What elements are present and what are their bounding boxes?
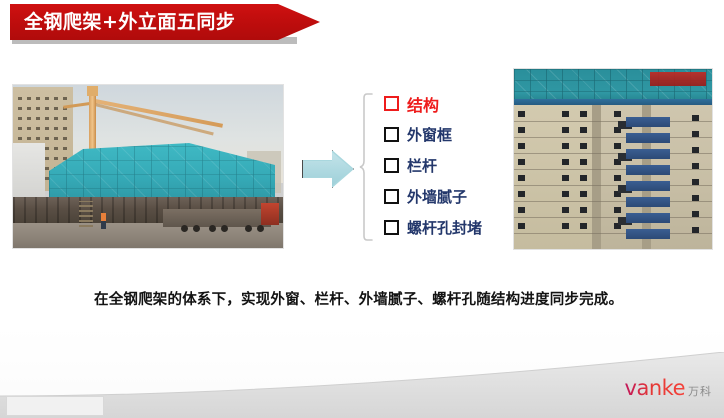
square-bullet-icon <box>384 96 399 111</box>
body-text: 在全钢爬架的体系下，实现外窗、栏杆、外墙腻子、螺杆孔随结构进度同步完成。 <box>52 290 672 310</box>
arrow-fill <box>302 150 354 188</box>
construction-site-photo <box>12 84 284 249</box>
square-bullet-icon <box>384 127 399 142</box>
square-bullet-icon <box>384 189 399 204</box>
crane-top <box>87 86 98 96</box>
facade-scaffold <box>514 69 712 103</box>
list-item-label: 栏杆 <box>407 155 437 176</box>
footer-placeholder-box <box>6 396 104 416</box>
site-worker <box>101 213 106 229</box>
list-item-label: 结构 <box>407 92 439 116</box>
logo-wordmark: vanke <box>625 378 685 399</box>
square-bullet-icon <box>384 220 399 235</box>
photo-white-building <box>12 143 45 203</box>
vanke-logo: vanke 万科 <box>625 378 712 399</box>
list-item-tie-hole-sealing[interactable]: 螺杆孔封堵 <box>384 212 534 243</box>
curly-brace-icon <box>358 92 374 242</box>
site-ladder <box>79 201 93 227</box>
list-item-label: 螺杆孔封堵 <box>407 217 482 238</box>
right-arrow-icon <box>302 150 354 188</box>
facade-slot-left <box>592 105 601 249</box>
logo-chinese: 万科 <box>688 384 712 399</box>
list-item-exterior-putty[interactable]: 外墙腻子 <box>384 181 534 212</box>
footer-decoration <box>0 352 724 418</box>
sync-items-list: 结构 外窗框 栏杆 外墙腻子 螺杆孔封堵 <box>384 88 534 243</box>
slide: 全钢爬架+外立面五同步 <box>0 0 724 418</box>
list-item-window-frame[interactable]: 外窗框 <box>384 119 534 150</box>
crane-mast <box>89 93 96 149</box>
square-bullet-icon <box>384 158 399 173</box>
list-item-label: 外窗框 <box>407 124 452 145</box>
facade-progress-photo <box>513 68 713 250</box>
list-item-railing[interactable]: 栏杆 <box>384 150 534 181</box>
flatbed-trailer <box>163 209 271 227</box>
truck-cab <box>261 203 279 225</box>
list-item-label: 外墙腻子 <box>407 186 467 207</box>
list-item-structure[interactable]: 结构 <box>384 88 534 119</box>
title-banner: 全钢爬架+外立面五同步 <box>10 4 322 46</box>
page-title: 全钢爬架+外立面五同步 <box>24 4 235 40</box>
site-banner <box>650 72 706 86</box>
